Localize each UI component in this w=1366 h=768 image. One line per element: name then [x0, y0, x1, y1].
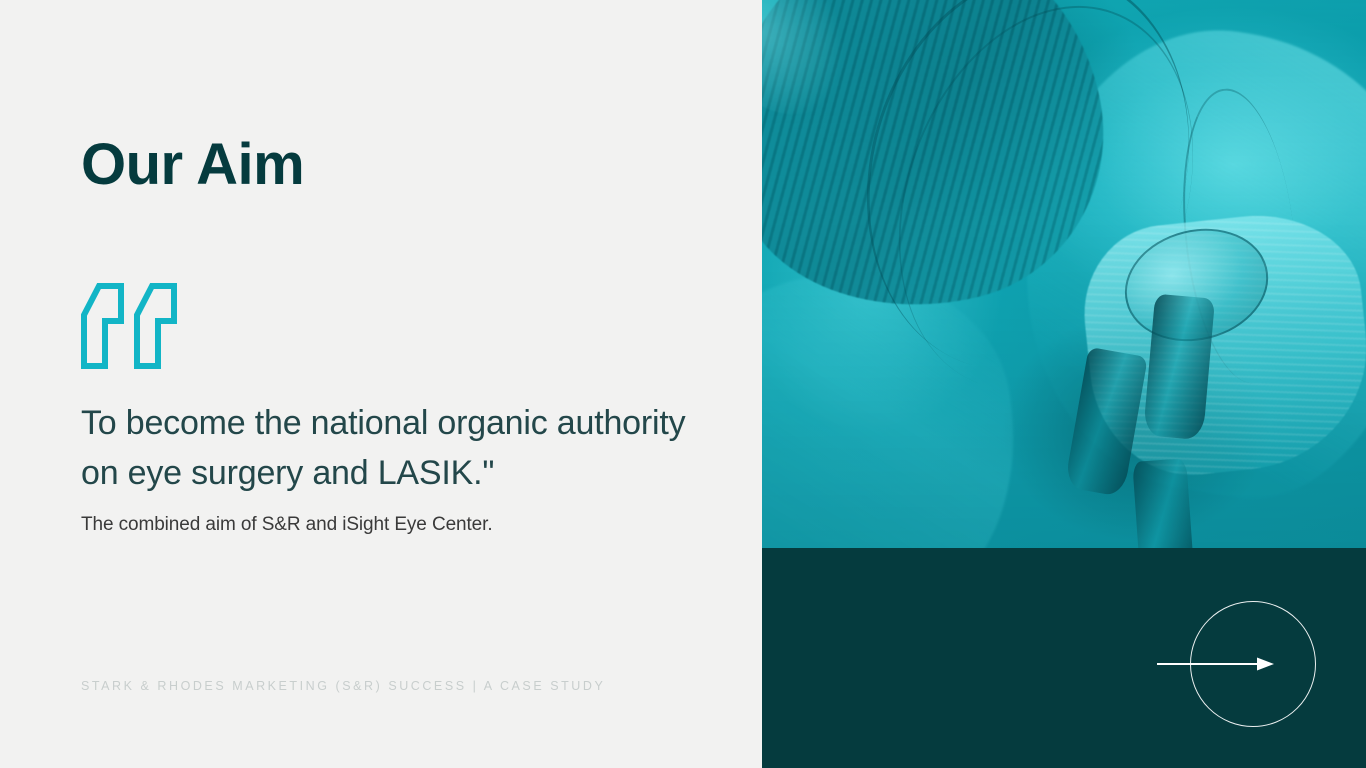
page-title: Our Aim — [81, 136, 304, 194]
double-quote-icon — [81, 283, 179, 369]
left-content-panel: Our Aim To become the national organic a… — [0, 0, 762, 768]
surgeon-photo — [762, 0, 1366, 548]
arrow-right-icon — [1157, 657, 1287, 671]
next-slide-button[interactable] — [1157, 595, 1337, 735]
dark-footer-block — [762, 548, 1366, 768]
footer-caption: STARK & RHODES MARKETING (S&R) SUCCESS |… — [81, 679, 605, 693]
right-media-panel — [762, 0, 1366, 768]
quote-text: To become the national organic authority… — [81, 398, 711, 499]
photo-duotone-tint — [762, 0, 1366, 548]
quote-subtitle: The combined aim of S&R and iSight Eye C… — [81, 511, 711, 540]
slide-root: Our Aim To become the national organic a… — [0, 0, 1366, 768]
